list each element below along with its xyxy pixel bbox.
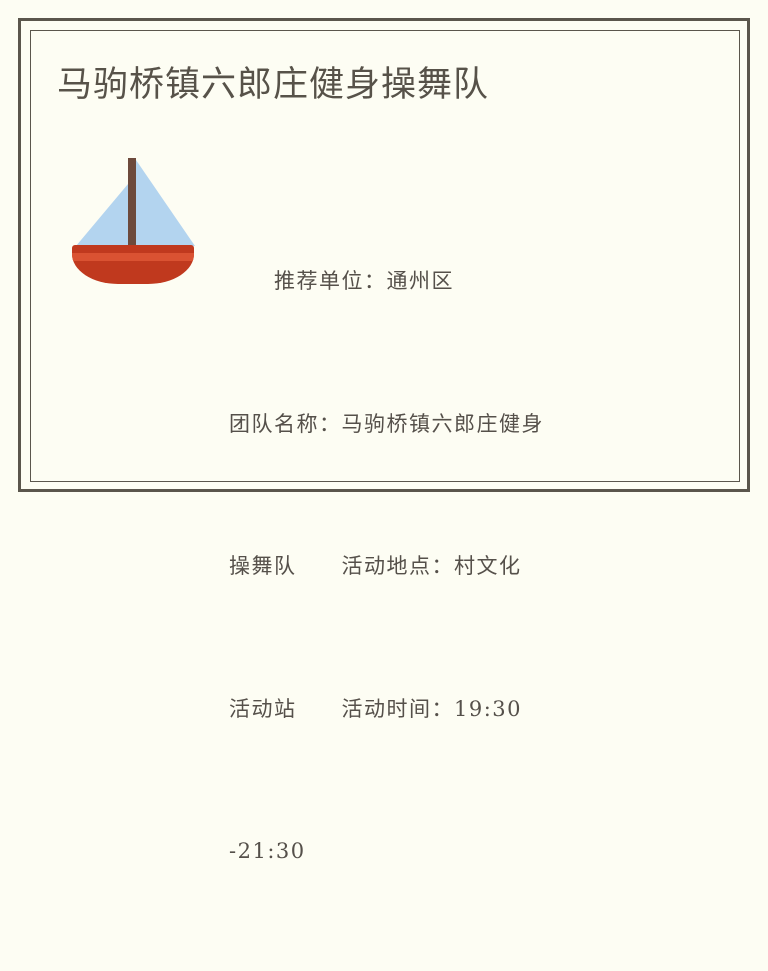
sail-right-icon bbox=[136, 160, 195, 246]
hull-stripe-icon bbox=[72, 253, 194, 261]
team-details: 推荐单位：通州区 团队名称：马驹桥镇六郎庄健身 操舞队 活动地点：村文化 活动站… bbox=[229, 163, 659, 971]
sail-left-icon bbox=[76, 184, 128, 246]
detail-line-recommending-unit: 推荐单位：通州区 bbox=[229, 258, 659, 306]
mast-icon bbox=[128, 158, 136, 248]
info-card: 马驹桥镇六郎庄健身操舞队 推荐单位：通州区 团队名称：马驹桥镇六郎庄健身 操舞队… bbox=[0, 0, 768, 510]
detail-line-team-name-cont-location: 操舞队 活动地点：村文化 bbox=[229, 543, 659, 591]
detail-line-location-cont-time: 活动站 活动时间：19:30 bbox=[229, 686, 659, 734]
detail-line-time-cont: -21:30 bbox=[229, 828, 659, 876]
page-title: 马驹桥镇六郎庄健身操舞队 bbox=[57, 62, 489, 107]
sailboat-icon bbox=[70, 152, 196, 287]
hull-icon bbox=[72, 245, 194, 284]
detail-line-team-name: 团队名称：马驹桥镇六郎庄健身 bbox=[229, 401, 659, 449]
